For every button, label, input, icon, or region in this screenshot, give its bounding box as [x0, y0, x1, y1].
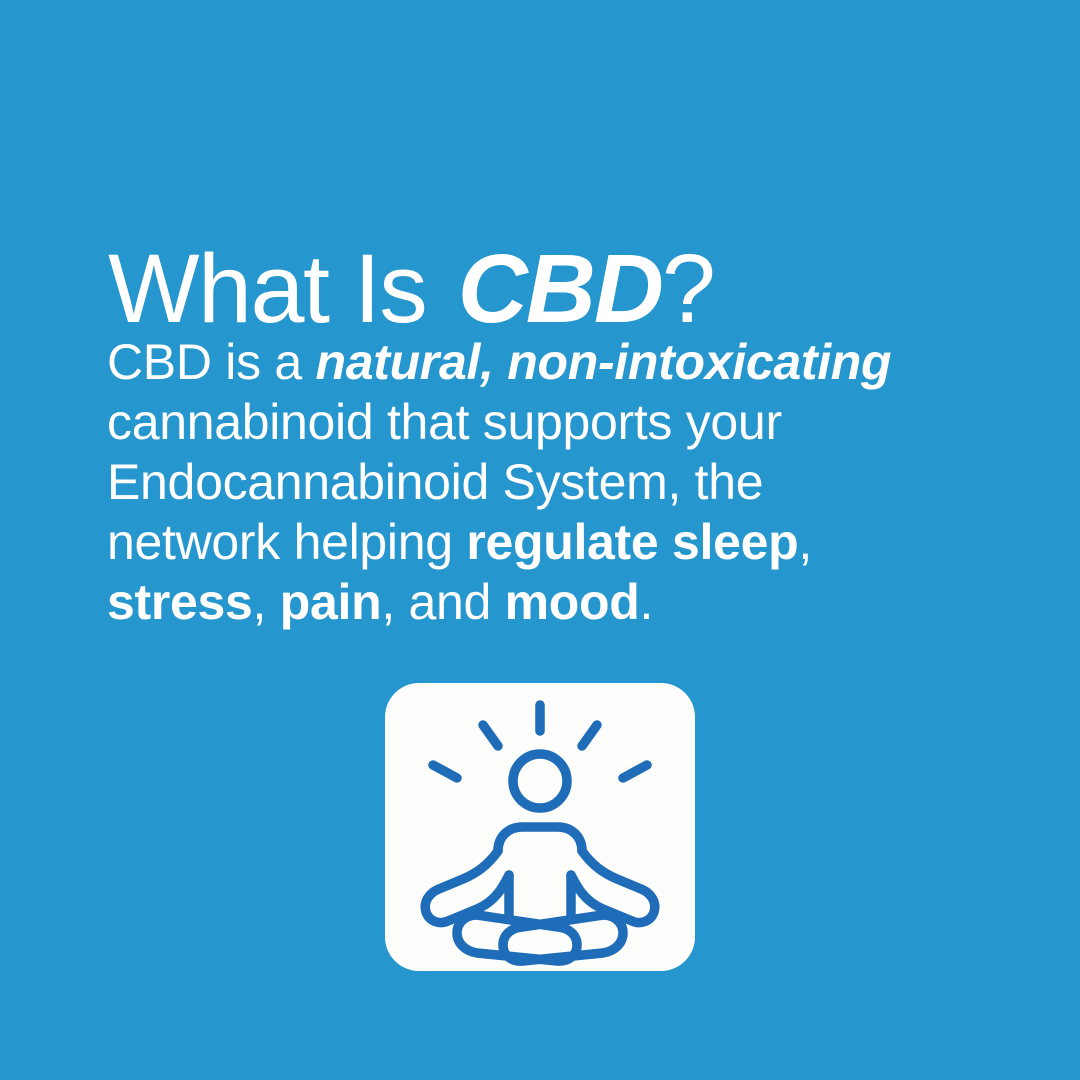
page-title-prefix: What Is — [108, 234, 452, 343]
body-paragraph: CBD is a natural, non-intoxicating canna… — [107, 332, 1007, 632]
ray-upper-right-icon — [582, 725, 597, 746]
body-line-1-emphasis: natural, non-intoxicating — [315, 334, 891, 390]
right-arm-icon — [571, 851, 655, 923]
page-title: What Is CBD? — [108, 240, 988, 339]
body-line-4-text: network helping — [107, 514, 466, 570]
ray-right-icon — [623, 765, 647, 778]
page-title-emphasis: CBD — [452, 234, 662, 343]
body-line-4-comma: , — [798, 514, 812, 570]
body-line-5-emphasis-mood: mood — [505, 574, 640, 630]
page-title-suffix: ? — [662, 234, 714, 343]
body-line-4-emphasis: regulate sleep — [466, 514, 798, 570]
body-line-1-text: CBD is a — [107, 334, 315, 390]
torso-icon — [498, 827, 582, 851]
body-line-3: Endocannabinoid System, the — [107, 452, 1007, 512]
left-arm-icon — [425, 851, 509, 923]
body-line-5-period: . — [640, 574, 654, 630]
icon-card — [385, 683, 695, 971]
meditating-person-icon — [385, 683, 695, 971]
body-line-1: CBD is a natural, non-intoxicating — [107, 332, 1007, 392]
body-line-5-sep-1: , — [253, 574, 280, 630]
body-line-5-sep-2: , and — [381, 574, 504, 630]
ray-upper-left-icon — [483, 725, 498, 746]
body-line-5-emphasis-pain: pain — [280, 574, 382, 630]
body-line-2: cannabinoid that supports your — [107, 392, 1007, 452]
body-line-5: stress, pain, and mood. — [107, 572, 1007, 632]
body-line-4: network helping regulate sleep, — [107, 512, 1007, 572]
ray-left-icon — [433, 765, 457, 778]
poster-canvas: What Is CBD? CBD is a natural, non-intox… — [0, 0, 1080, 1080]
head-icon — [513, 754, 567, 808]
body-line-5-emphasis-stress: stress — [107, 574, 253, 630]
